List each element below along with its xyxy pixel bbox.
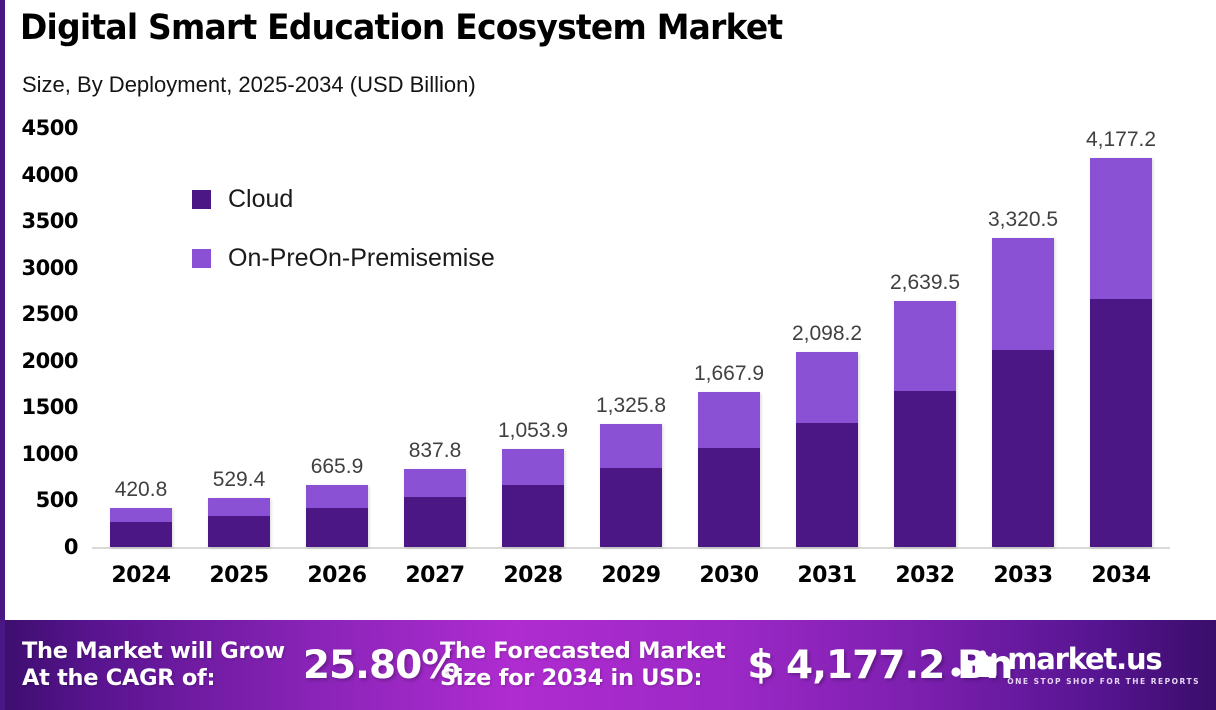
y-axis-tick-label: 4000 <box>0 163 78 187</box>
legend-item[interactable]: Cloud <box>192 185 495 214</box>
bar-segment-on-premise[interactable] <box>404 469 466 497</box>
logo-tagline: ONE STOP SHOP FOR THE REPORTS <box>1007 677 1200 686</box>
stacked-bar[interactable] <box>992 238 1054 547</box>
bar-group[interactable]: 3,320.5 <box>974 128 1072 547</box>
x-axis-tick-label: 2028 <box>503 563 562 588</box>
x-axis-tick-label: 2029 <box>601 563 660 588</box>
cagr-value: 25.80% <box>303 643 459 688</box>
bar-value-label: 665.9 <box>311 455 364 479</box>
bar-chart-logo-icon <box>951 647 997 684</box>
bar-segment-on-premise[interactable] <box>992 238 1054 350</box>
stacked-bar[interactable] <box>796 352 858 547</box>
bar-segment-on-premise[interactable] <box>208 498 270 516</box>
y-axis-tick-label: 500 <box>0 488 78 512</box>
page-title: Digital Smart Education Ecosystem Market <box>20 8 782 48</box>
bar-segment-on-premise[interactable] <box>110 508 172 522</box>
chart-subtitle: Size, By Deployment, 2025-2034 (USD Bill… <box>22 72 476 98</box>
cagr-caption-line2: At the CAGR of: <box>22 665 285 692</box>
bar-value-label: 2,639.5 <box>890 271 960 295</box>
cagr-block: The Market will Grow At the CAGR of: 25.… <box>22 620 459 710</box>
market-us-logo[interactable]: market.us ONE STOP SHOP FOR THE REPORTS <box>951 620 1200 710</box>
bar-value-label: 837.8 <box>409 439 462 463</box>
legend-label: Cloud <box>228 185 293 214</box>
bar-group[interactable]: 2,639.5 <box>876 128 974 547</box>
x-axis-tick-label: 2030 <box>699 563 758 588</box>
legend-color-swatch <box>192 249 211 268</box>
legend-label: On-PreOn-Premisemise <box>228 244 495 273</box>
x-axis-tick-label: 2032 <box>895 563 954 588</box>
bar-value-label: 529.4 <box>213 468 266 492</box>
legend-color-swatch <box>192 190 211 209</box>
chart-legend: CloudOn-PreOn-Premisemise <box>192 185 495 303</box>
bar-value-label: 420.8 <box>115 478 168 502</box>
forecast-caption-line2: Size for 2034 in USD: <box>440 665 725 692</box>
footer-banner: The Market will Grow At the CAGR of: 25.… <box>0 620 1216 710</box>
x-axis-tick-label: 2025 <box>209 563 268 588</box>
bar-segment-cloud[interactable] <box>894 391 956 548</box>
bar-group[interactable]: 2,098.2 <box>778 128 876 547</box>
stacked-bar[interactable] <box>698 392 760 547</box>
bar-value-label: 3,320.5 <box>988 208 1058 232</box>
stacked-bar[interactable] <box>208 498 270 547</box>
bar-segment-cloud[interactable] <box>600 468 662 547</box>
y-axis-tick-label: 3500 <box>0 209 78 233</box>
forecast-caption-line1: The Forecasted Market <box>440 638 725 665</box>
cagr-caption-line1: The Market will Grow <box>22 638 285 665</box>
forecast-block: The Forecasted Market Size for 2034 in U… <box>440 620 1012 710</box>
bar-value-label: 2,098.2 <box>792 322 862 346</box>
bar-segment-cloud[interactable] <box>992 350 1054 547</box>
left-accent-stripe <box>0 0 5 710</box>
stacked-bar[interactable] <box>894 301 956 547</box>
stacked-bar[interactable] <box>404 469 466 547</box>
bar-segment-on-premise[interactable] <box>502 449 564 485</box>
bar-segment-on-premise[interactable] <box>894 301 956 390</box>
x-axis-tick-label: 2027 <box>405 563 464 588</box>
stacked-bar[interactable] <box>306 485 368 547</box>
stacked-bar[interactable] <box>502 449 564 547</box>
x-axis-tick-label: 2031 <box>797 563 856 588</box>
x-axis-line <box>92 547 1170 549</box>
chart-infographic: Digital Smart Education Ecosystem Market… <box>0 0 1216 710</box>
y-axis-tick-label: 2500 <box>0 302 78 326</box>
stacked-bar[interactable] <box>1090 158 1152 547</box>
y-axis-tick-label: 0 <box>0 535 78 559</box>
x-axis-tick-label: 2024 <box>111 563 170 588</box>
y-axis-tick-label: 3000 <box>0 256 78 280</box>
stacked-bar[interactable] <box>600 424 662 547</box>
bar-group[interactable]: 1,053.9 <box>484 128 582 547</box>
bar-value-label: 1,667.9 <box>694 362 764 386</box>
bar-value-label: 1,325.8 <box>596 394 666 418</box>
bar-segment-cloud[interactable] <box>306 508 368 547</box>
bar-segment-on-premise[interactable] <box>796 352 858 423</box>
x-axis-tick-label: 2026 <box>307 563 366 588</box>
bar-group[interactable]: 1,667.9 <box>680 128 778 547</box>
bar-segment-cloud[interactable] <box>796 423 858 547</box>
legend-item[interactable]: On-PreOn-Premisemise <box>192 244 495 273</box>
bar-group[interactable]: 1,325.8 <box>582 128 680 547</box>
chart-header: Digital Smart Education Ecosystem Market… <box>0 0 1216 108</box>
bar-segment-cloud[interactable] <box>404 497 466 547</box>
bar-segment-on-premise[interactable] <box>1090 158 1152 299</box>
bar-segment-on-premise[interactable] <box>698 392 760 448</box>
bar-segment-cloud[interactable] <box>698 448 760 547</box>
y-axis-tick-label: 1500 <box>0 395 78 419</box>
bar-segment-cloud[interactable] <box>502 485 564 547</box>
x-axis-tick-label: 2034 <box>1091 563 1150 588</box>
bar-value-label: 1,053.9 <box>498 419 568 443</box>
logo-wordmark: market.us <box>1007 645 1200 674</box>
y-axis-tick-label: 1000 <box>0 442 78 466</box>
bar-group[interactable]: 4,177.2 <box>1072 128 1170 547</box>
bar-segment-cloud[interactable] <box>1090 299 1152 547</box>
x-axis-tick-label: 2033 <box>993 563 1052 588</box>
bar-group[interactable]: 420.8 <box>92 128 190 547</box>
stacked-bar[interactable] <box>110 508 172 547</box>
bar-segment-on-premise[interactable] <box>600 424 662 469</box>
chart-plot-area: 050010001500200025003000350040004500 420… <box>0 110 1216 610</box>
bar-segment-cloud[interactable] <box>208 516 270 547</box>
y-axis-tick-label: 2000 <box>0 349 78 373</box>
bar-segment-on-premise[interactable] <box>306 485 368 508</box>
bar-value-label: 4,177.2 <box>1086 128 1156 152</box>
y-axis-tick-label: 4500 <box>0 116 78 140</box>
bar-segment-cloud[interactable] <box>110 522 172 547</box>
